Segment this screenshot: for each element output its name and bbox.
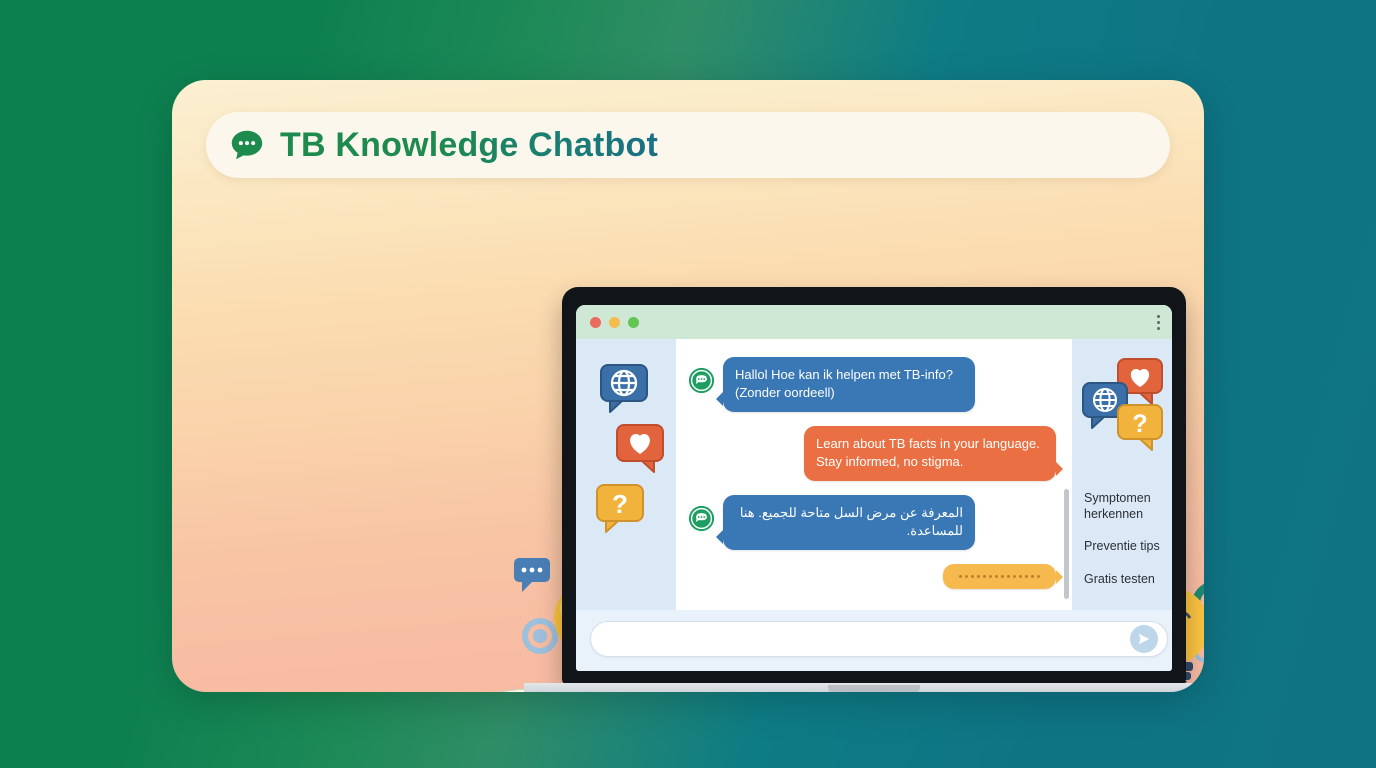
gear-icon: [525, 621, 555, 651]
info-message-bubble: Learn about TB facts in your language. S…: [804, 426, 1056, 481]
window-maximize-button[interactable]: [628, 317, 639, 328]
browser-titlebar: [576, 305, 1172, 339]
gear-icon: [1196, 644, 1204, 660]
suggestion-gratis-testen[interactable]: Gratis testen: [1084, 572, 1172, 588]
chat-message: Learn about TB facts in your language. S…: [688, 426, 1056, 481]
question-bubble-icon[interactable]: ?: [594, 482, 646, 534]
hero-card: TB Knowledge Chatbot: [172, 80, 1204, 692]
bot-avatar-icon: [688, 367, 715, 394]
left-icon-rail: ?: [576, 339, 676, 610]
typing-indicator-bubble: [943, 564, 1056, 589]
chat-message: [688, 564, 1056, 589]
bot-avatar-icon: [688, 505, 715, 532]
chat-message: المعرفة عن مرض السل متاحة للجميع. هنا لل…: [688, 495, 1056, 550]
window-close-button[interactable]: [590, 317, 601, 328]
message-list: Hallol Hoe kan ik helpen met TB-info? (Z…: [676, 339, 1072, 610]
chat-panel: Hallol Hoe kan ik helpen met TB-info? (Z…: [676, 339, 1072, 610]
chat-bubble-icon: [228, 126, 266, 164]
suggestion-symptomen-herkennen[interactable]: Symptomen herkennen: [1084, 491, 1172, 522]
send-button[interactable]: [1130, 625, 1158, 653]
chat-bubble-icon: [514, 558, 550, 592]
suggestion-list: Symptomen herkennen Preventie tips Grati…: [1084, 491, 1172, 588]
chat-message: Hallol Hoe kan ik helpen met TB-info? (Z…: [688, 357, 1056, 412]
composer: [576, 610, 1172, 671]
chat-input[interactable]: [590, 621, 1168, 657]
question-bubble-icon: ?: [1118, 405, 1162, 450]
gear-icon: [533, 629, 547, 643]
bubble-cluster-icon: ?: [1080, 357, 1166, 457]
bot-message-bubble: Hallol Hoe kan ik helpen met TB-info? (Z…: [723, 357, 975, 412]
laptop-notch: [828, 685, 920, 692]
browser-content: ?: [576, 339, 1172, 610]
globe-bubble-icon[interactable]: [598, 362, 650, 414]
gear-icon: [1196, 585, 1204, 623]
page-header: TB Knowledge Chatbot: [206, 112, 1170, 178]
suggestion-preventie-tips[interactable]: Preventie tips: [1084, 539, 1172, 555]
window-minimize-button[interactable]: [609, 317, 620, 328]
bot-message-bubble-arabic: المعرفة عن مرض السل متاحة للجميع. هنا لل…: [723, 495, 975, 550]
laptop-mockup: ?: [562, 287, 1186, 692]
laptop-screen: ?: [576, 305, 1172, 671]
svg-text:?: ?: [1132, 410, 1147, 438]
svg-text:?: ?: [612, 489, 628, 519]
kebab-menu-icon[interactable]: [1157, 315, 1160, 330]
chat-scrollbar[interactable]: [1064, 489, 1069, 599]
page-title: TB Knowledge Chatbot: [280, 126, 658, 165]
send-arrow-icon: [1137, 632, 1151, 646]
right-panel: ? Symptomen herkennen Preventie tips Gra…: [1072, 339, 1172, 610]
heart-bubble-icon[interactable]: [614, 422, 666, 474]
